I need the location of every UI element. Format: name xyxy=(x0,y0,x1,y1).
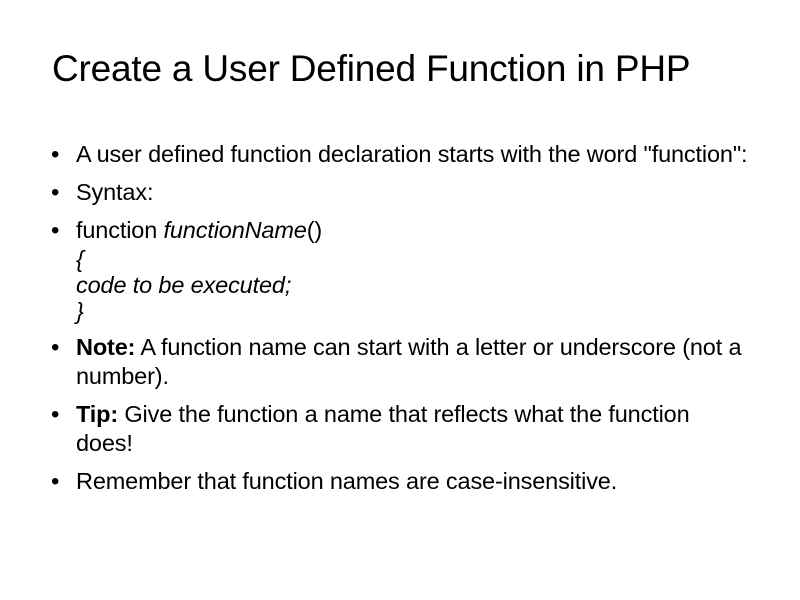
bullet-text-declaration: A user defined function declaration star… xyxy=(76,140,748,169)
bullet-text-note: Note: A function name can start with a l… xyxy=(76,333,748,391)
bullet-glyph-icon: • xyxy=(48,178,76,207)
code-body-line: code to be executed; xyxy=(76,272,748,298)
bullet-glyph-icon: • xyxy=(48,400,76,429)
note-lead-label: Note: xyxy=(76,334,135,360)
bullet-text-syntax-code: function functionName() { code to be exe… xyxy=(76,216,748,324)
list-item: • Remember that function names are case-… xyxy=(48,467,748,496)
code-close-brace: } xyxy=(76,298,748,324)
bullet-text-case-insensitive: Remember that function names are case-in… xyxy=(76,467,748,496)
note-body-text: A function name can start with a letter … xyxy=(76,334,741,389)
bullet-glyph-icon: • xyxy=(48,216,76,245)
tip-body-text: Give the function a name that reflects w… xyxy=(76,401,690,456)
code-signature-line: function functionName() xyxy=(76,217,322,243)
list-item: • Tip: Give the function a name that ref… xyxy=(48,400,748,458)
code-parentheses: () xyxy=(307,217,322,243)
code-keyword-function: function xyxy=(76,217,164,243)
page-title: Create a User Defined Function in PHP xyxy=(52,47,752,91)
code-body-terminator: ; xyxy=(285,272,291,298)
list-item: • function functionName() { code to be e… xyxy=(48,216,748,324)
list-item: • A user defined function declaration st… xyxy=(48,140,748,169)
bullet-text-tip: Tip: Give the function a name that refle… xyxy=(76,400,748,458)
bullet-glyph-icon: • xyxy=(48,467,76,496)
code-block: { code to be executed; } xyxy=(76,246,748,324)
code-body-placeholder: code to be executed xyxy=(76,272,285,298)
bullet-text-syntax-label: Syntax: xyxy=(76,178,748,207)
bullet-glyph-icon: • xyxy=(48,140,76,169)
slide-body: • A user defined function declaration st… xyxy=(48,140,748,505)
code-open-brace: { xyxy=(76,246,748,272)
code-placeholder-function-name: functionName xyxy=(164,217,307,243)
slide-canvas: Create a User Defined Function in PHP • … xyxy=(0,0,800,600)
tip-lead-label: Tip: xyxy=(76,401,118,427)
bullet-glyph-icon: • xyxy=(48,333,76,362)
list-item: • Note: A function name can start with a… xyxy=(48,333,748,391)
list-item: • Syntax: xyxy=(48,178,748,207)
